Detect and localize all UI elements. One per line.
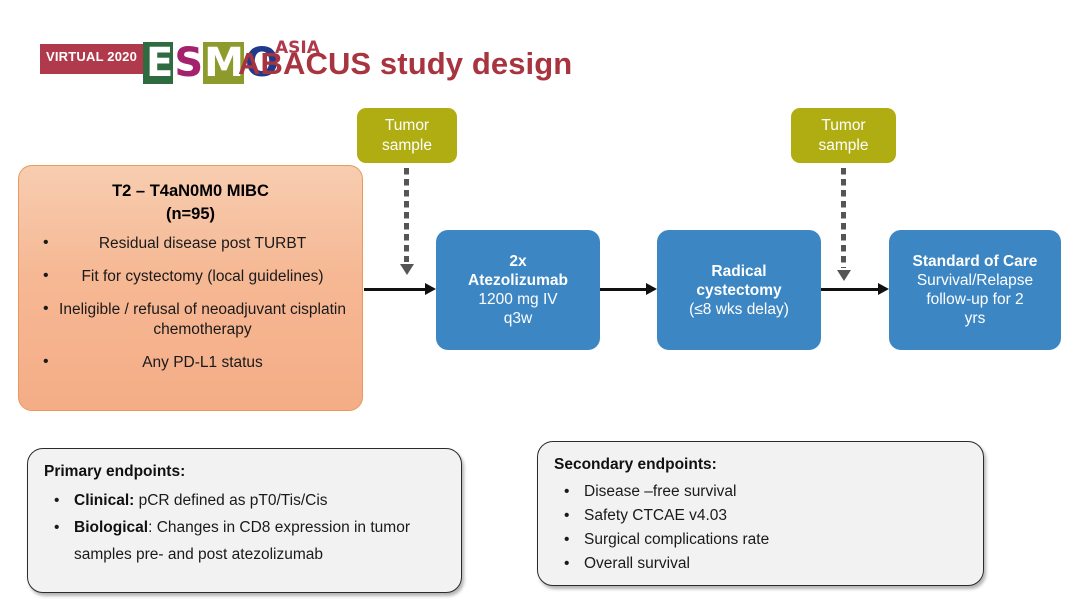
- treatment-title: 2x Atezolizumab: [468, 252, 568, 290]
- treatment-box-cystectomy: Radical cystectomy (≤8 wks delay): [657, 230, 821, 350]
- treatment-box-atezolizumab: 2x Atezolizumab 1200 mg IV q3w: [436, 230, 600, 350]
- secondary-endpoints-panel: Secondary endpoints: Disease –free survi…: [537, 441, 984, 586]
- list-item: Clinical: pCR defined as pT0/Tis/Cis: [44, 487, 445, 514]
- list-item: Safety CTCAE v4.03: [554, 504, 967, 528]
- arrow-cystectomy-to-standard-of-care: [821, 283, 889, 295]
- endpoint-label: Biological: [74, 519, 148, 536]
- list-item: Any PD-L1 status: [41, 353, 346, 373]
- surgery-title: Radical cystectomy: [696, 262, 781, 300]
- dotted-arrow-sample-2: [841, 168, 848, 286]
- list-item: Residual disease post TURBT: [41, 234, 346, 254]
- treatment-box-standard-of-care: Standard of Care Survival/Relapse follow…: [889, 230, 1061, 350]
- followup-title: Standard of Care: [913, 252, 1038, 271]
- list-item: Ineligible / refusal of neoadjuvant cisp…: [41, 300, 346, 340]
- primary-endpoints-title: Primary endpoints:: [44, 463, 445, 481]
- virtual-2020-badge: VIRTUAL 2020: [40, 44, 143, 74]
- arrow-eligibility-to-treatment: [364, 283, 436, 295]
- list-item: Biological: Changes in CD8 expression in…: [44, 514, 445, 568]
- dotted-arrow-sample-1: [404, 168, 411, 280]
- secondary-endpoints-list: Disease –free survival Safety CTCAE v4.0…: [554, 480, 967, 576]
- primary-endpoints-panel: Primary endpoints: Clinical: pCR defined…: [27, 448, 462, 593]
- endpoint-label: Clinical:: [74, 492, 134, 509]
- esmo-letter-e: E: [143, 42, 173, 84]
- eligibility-criteria-list: Residual disease post TURBT Fit for cyst…: [33, 234, 348, 386]
- esmo-letter-s: S: [173, 42, 203, 84]
- surgery-detail: (≤8 wks delay): [689, 300, 789, 319]
- tumor-sample-box-1: Tumor sample: [357, 108, 457, 163]
- eligibility-box: T2 – T4aN0M0 MIBC (n=95) Residual diseas…: [18, 165, 363, 411]
- endpoint-text: pCR defined as pT0/Tis/Cis: [134, 492, 327, 509]
- followup-detail: Survival/Relapse follow-up for 2 yrs: [917, 271, 1033, 328]
- list-item: Disease –free survival: [554, 480, 967, 504]
- tumor-sample-box-2: Tumor sample: [791, 108, 896, 163]
- secondary-endpoints-title: Secondary endpoints:: [554, 456, 967, 474]
- treatment-dose: 1200 mg IV q3w: [478, 290, 557, 328]
- page-title: ABACUS study design: [238, 46, 572, 82]
- list-item: Fit for cystectomy (local guidelines): [41, 267, 346, 287]
- arrow-treatment-to-cystectomy: [600, 283, 657, 295]
- eligibility-title: T2 – T4aN0M0 MIBC (n=95): [33, 180, 348, 226]
- list-item: Overall survival: [554, 552, 967, 576]
- primary-endpoints-list: Clinical: pCR defined as pT0/Tis/Cis Bio…: [44, 487, 445, 568]
- list-item: Surgical complications rate: [554, 528, 967, 552]
